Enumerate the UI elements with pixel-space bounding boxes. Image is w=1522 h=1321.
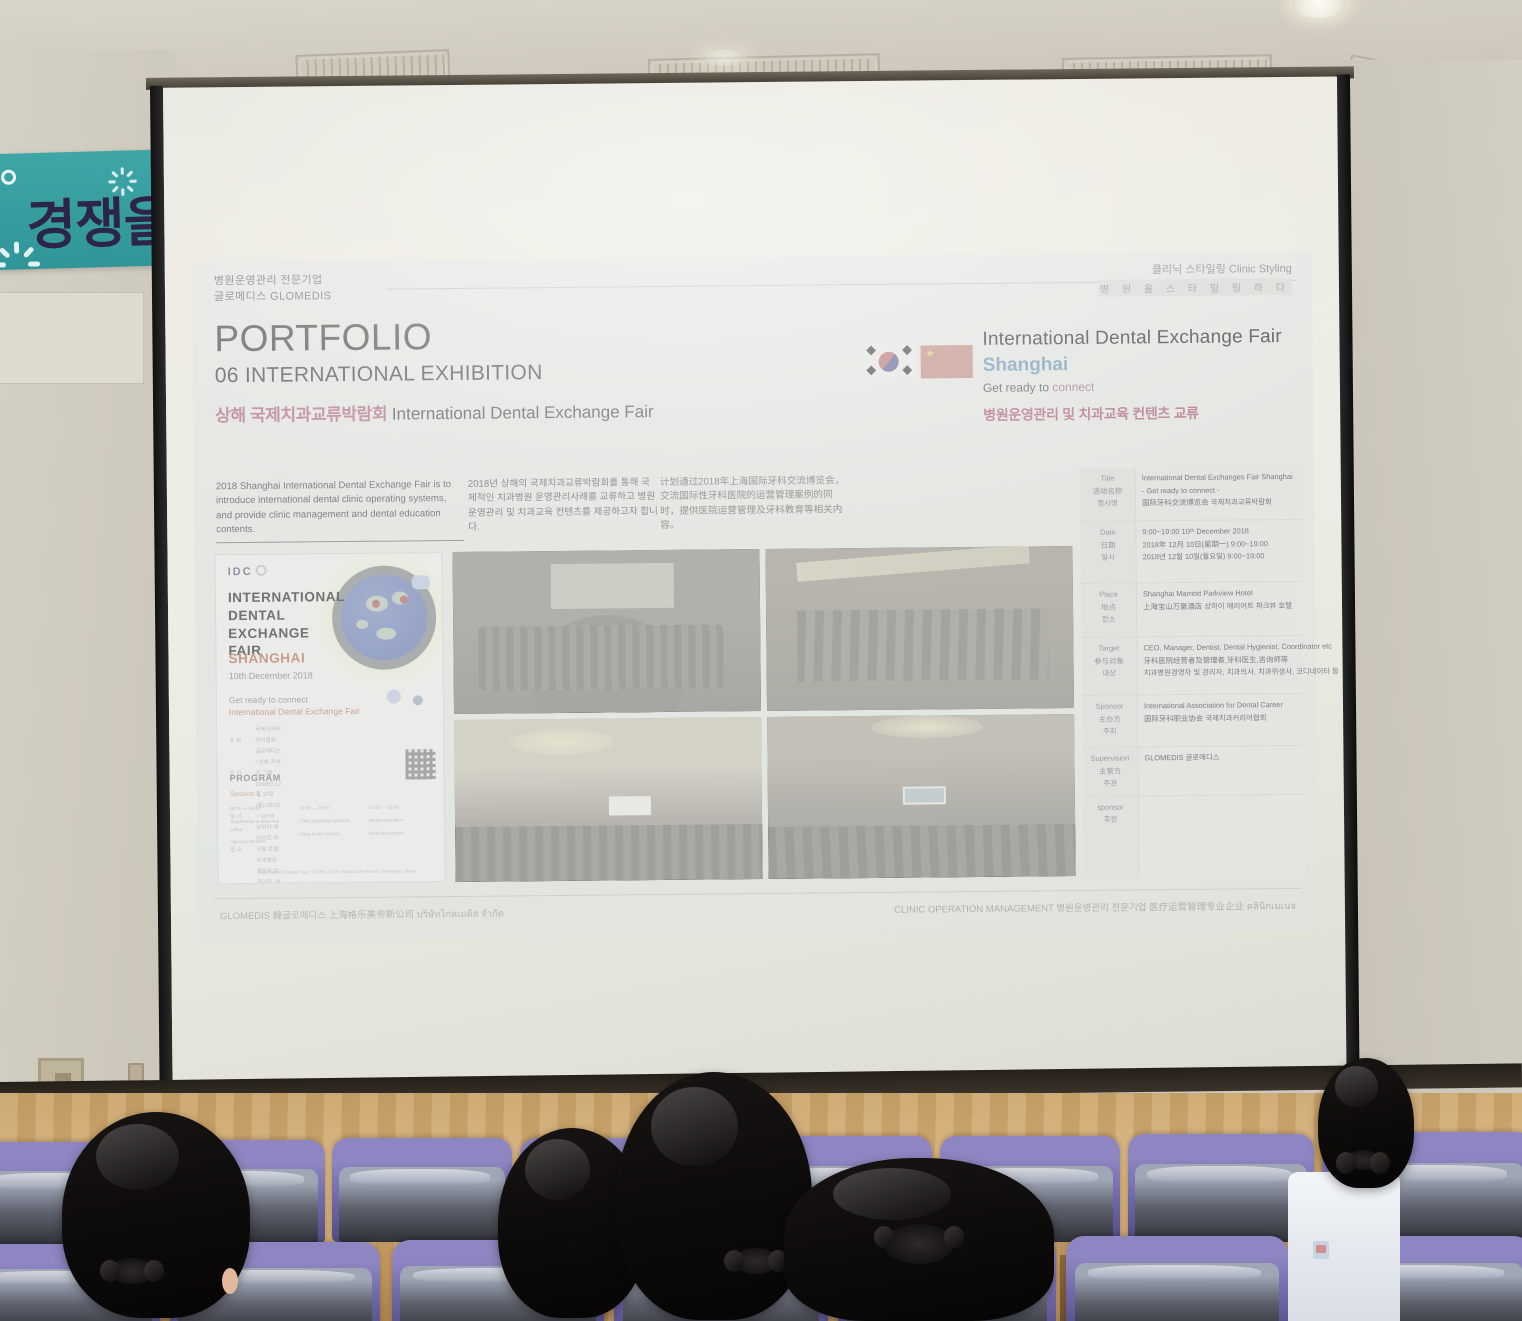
table-row: Target 参与对象 대상 CEO, Manager, Dentist, De… [1081,636,1304,696]
slide-footer-right: CLINIC OPERATION MANAGEMENT 병원운영관리 전문기업 … [894,898,1296,918]
table-row-value: CEO, Manager, Dentist, Dental Hygienist,… [1137,635,1345,694]
brand-line-1: 병원운영관리 전문기업 [214,274,323,287]
list-item: 주 최국제치과커리어협회 [229,723,419,747]
table-row-label: Sponsor 主办方 주최 [1082,695,1138,747]
table-row: sponsor 후원 [1083,795,1306,877]
brand-block: 병원운영관리 전문기업 글로메디스 GLOMEDIS [214,273,332,306]
ear [222,1268,238,1294]
table-row-label: Date 日期 일시 [1080,521,1137,583]
china-flag-icon: ★ [921,345,973,378]
seat[interactable] [1066,1236,1288,1321]
table-row-value: Shanghai Marriott Parkview Hotel 上海宝山万豪酒… [1137,582,1304,637]
poster-title-l2: DENTAL [228,607,285,623]
poster-program-sub: Session 1 [230,791,261,798]
poster-bubble-icon-2 [387,690,401,704]
poster-city: SHANGHAI [228,650,305,666]
poster-logo-text: IDC [228,566,253,578]
poster-title: INTERNATIONAL DENTAL EXCHANGE FAIR [228,588,346,660]
table-row-value: International Association for Dental Car… [1138,694,1304,747]
seat[interactable] [1128,1134,1314,1242]
table-row-label: sponsor 후원 [1083,796,1140,877]
description-cn: 计划通过2018年上海国际牙科交流博览会，交流国际性牙科医院的运营管理案例的同时… [660,474,851,533]
slide-headline-en: International Dental Exchange Fair [392,402,654,424]
projection-screen-surface: 병원운영관리 전문기업 글로메디스 GLOMEDIS 클리닉 스타일링 Clin… [163,76,1347,1089]
table-row-label: Target 参与对象 대상 [1081,637,1138,695]
wall-plaque [0,292,144,384]
qr-code-icon [405,749,435,779]
poster-tagline: Get ready to connect [229,694,308,705]
poster-program-columns: 09:00 — 09:30Registration & Welcome coff… [230,803,430,851]
event-tagline: Get ready to connect [983,380,1095,395]
poster-tagline-2: International Dental Exchange Fair [229,706,360,717]
audience-member-head [616,1072,812,1320]
poster-program-heading: PROGRAM [230,773,281,783]
table-row: Supervision 主管方 주관 GLOMEDIS 글로메디스 [1082,746,1304,797]
table-row-label: Supervision 主管方 주관 [1082,747,1138,795]
korea-flag-icon [865,344,915,378]
event-photo-3 [454,717,763,882]
event-photo-grid [452,546,1075,882]
hair-bow [734,1248,778,1274]
event-photo-4 [767,714,1076,879]
photo-scene: 경쟁을 병원운영관리 전문기업 [0,0,1522,1321]
event-tagline-plain: Get ready to [983,380,1053,395]
right-wall [1345,60,1522,1100]
ceiling-downlight [1292,0,1346,18]
hair-bow [884,1224,954,1264]
hair-bow [1346,1150,1380,1170]
banner-sunburst-icon [0,241,40,270]
ceiling-downlight-2 [700,50,748,66]
projection-screen-assembly: 병원운영관리 전문기업 글로메디스 GLOMEDIS 클리닉 스타일링 Clin… [138,74,1364,1104]
table-row-value: International Dental Exchanges Fair Shan… [1136,466,1303,521]
audience-member-head [62,1112,250,1318]
poster-logo-circle-icon [256,565,267,576]
table-row: Date 日期 일시 9:00~19:00 10ᵗʰ December 2018… [1080,520,1303,584]
poster-bubble-icon-1 [412,575,430,589]
poster-date: 10th December 2018 [229,670,313,681]
poster-title-l3: EXCHANGE [228,625,309,641]
staff-uniform [1288,1172,1400,1321]
wall-banner-text: 경쟁을 [25,177,157,260]
slide-subtitle: 06 INTERNATIONAL EXHIBITION [215,354,1297,388]
poster-title-l1: INTERNATIONAL [228,589,345,605]
description-en: 2018 Shanghai International Dental Excha… [216,478,462,538]
event-tagline-accent: connect [1052,380,1094,394]
staff-member-head [1318,1058,1414,1188]
poster-logo: IDC [228,565,267,578]
event-photo-1 [452,549,761,714]
event-photo-2 [765,546,1074,711]
seat[interactable] [332,1138,512,1242]
event-poster-image: IDC INTERNATIONAL DENTAL [214,552,445,884]
event-subtitle-kr: 병원운영관리 및 치과교육 컨텐츠 교류 [983,403,1199,425]
wall-banner: 경쟁을 [0,150,158,271]
slide-footer-left: GLOMEDIS 韓글로메디스 上海格乐美帝斯公司 บริษัทโกลเมดิส… [220,906,504,925]
table-row: Title 活动名称 행사명 International Dental Exch… [1080,466,1303,522]
hair-bow [110,1258,154,1284]
poster-bubble-icon-3 [413,695,423,705]
audience-member-head [784,1158,1054,1321]
table-row-label: Place 地点 장소 [1081,583,1138,637]
clinic-styling-kr: 병 원 을 스 타 일 링 하 다 [1098,278,1292,297]
table-row-label: Title 活动名称 행사명 [1080,467,1137,521]
clinic-styling-en: 클리닉 스타일링 Clinic Styling [1152,263,1292,276]
presentation-slide: 병원운영관리 전문기업 글로메디스 GLOMEDIS 클리닉 스타일링 Clin… [192,252,1318,943]
table-row-value: 9:00~19:00 10ᵗʰ December 2018 2018年 12月 … [1136,520,1303,583]
banner-dot-icon [1,170,16,185]
flags-group: ★ [865,343,973,386]
description-underline [216,540,464,543]
table-row: Sponsor 主办方 주최 International Association… [1082,694,1304,748]
brand-line-2: 글로메디스 GLOMEDIS [214,290,331,303]
slide-headline-kr: 상해 국제치과교류박람회 [215,405,387,426]
event-city: Shanghai [983,354,1069,377]
event-title: International Dental Exchange Fair [982,326,1282,351]
event-info-table: Title 活动名称 행사명 International Dental Exch… [1080,466,1306,876]
table-row-value [1139,795,1306,877]
flag-star-icon: ★ [926,349,935,359]
clinic-styling-block: 클리닉 스타일링 Clinic Styling 병 원 을 스 타 일 링 하 … [1098,260,1292,297]
description-kr: 2018년 상해의 국제치과교류박람회를 통해 국제적인 치과병원 운영관리사례… [468,476,659,535]
slide-header: 병원운영관리 전문기업 글로메디스 GLOMEDIS 클리닉 스타일링 Clin… [208,262,1296,314]
table-row-value: GLOMEDIS 글로메디스 [1138,746,1304,795]
slide-footer: GLOMEDIS 韓글로메디스 上海格乐美帝斯公司 บริษัทโกลเมดิส… [214,888,1302,932]
table-row: Place 地点 장소 Shanghai Marriott Parkview H… [1081,582,1304,638]
banner-sunburst-icon-2 [108,167,137,196]
uniform-badge [1313,1241,1329,1259]
